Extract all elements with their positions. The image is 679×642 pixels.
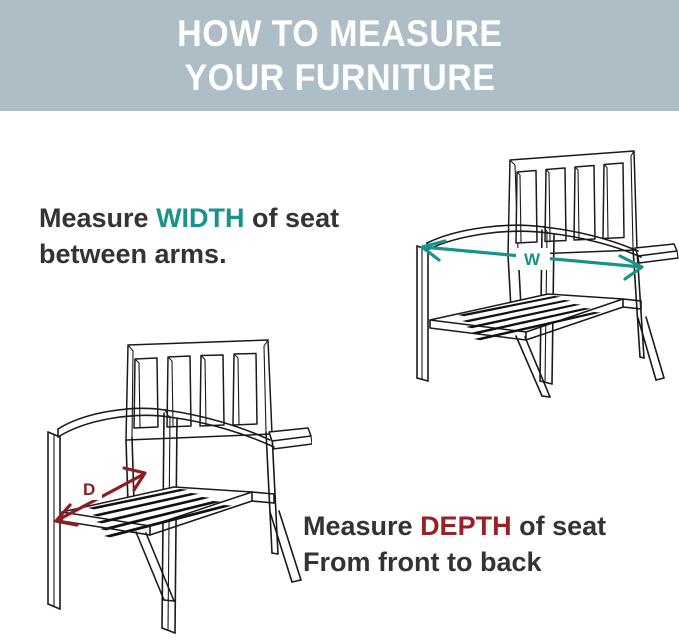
depth-text-after: of seat xyxy=(512,511,607,541)
depth-chair-illustration: D xyxy=(22,322,312,642)
width-dimension-label: W xyxy=(524,250,541,269)
page-title-line-1: HOW TO MEASURE xyxy=(177,12,502,56)
depth-keyword: DEPTH xyxy=(420,511,512,541)
width-keyword: WIDTH xyxy=(156,203,244,233)
page-title-line-2: YOUR FURNITURE xyxy=(184,56,495,100)
depth-text-before: Measure xyxy=(303,511,420,541)
chair-side-rail xyxy=(252,492,274,503)
chair-seat-slats xyxy=(430,294,623,340)
depth-instruction-line-1: Measure DEPTH of seat xyxy=(303,508,606,544)
width-instruction-text: Measure WIDTH of seat between arms. xyxy=(39,200,339,272)
chair-svg-depth: D xyxy=(22,322,312,642)
width-instruction-line-2: between arms. xyxy=(39,236,339,272)
chair-backrest xyxy=(126,340,272,440)
chair-backrest xyxy=(508,151,637,255)
header-banner: HOW TO MEASURE YOUR FURNITURE xyxy=(0,0,679,111)
chair-side-rail xyxy=(623,299,641,309)
depth-instruction-text: Measure DEPTH of seat From front to back xyxy=(303,508,606,580)
chair-svg-width: W xyxy=(398,138,679,400)
width-text-before: Measure xyxy=(39,203,156,233)
chair-arm-right xyxy=(635,244,678,263)
width-instruction-line-1: Measure WIDTH of seat xyxy=(39,200,339,236)
chair-arm-right xyxy=(269,428,312,449)
measurement-guide-page: HOW TO MEASURE YOUR FURNITURE Measure WI… xyxy=(0,0,679,642)
depth-instruction-line-2: From front to back xyxy=(303,544,606,580)
width-chair-illustration: W xyxy=(398,138,679,400)
width-text-after: of seat xyxy=(245,203,340,233)
chair-leg-front-left xyxy=(417,246,428,381)
depth-dimension-label: D xyxy=(83,480,95,499)
